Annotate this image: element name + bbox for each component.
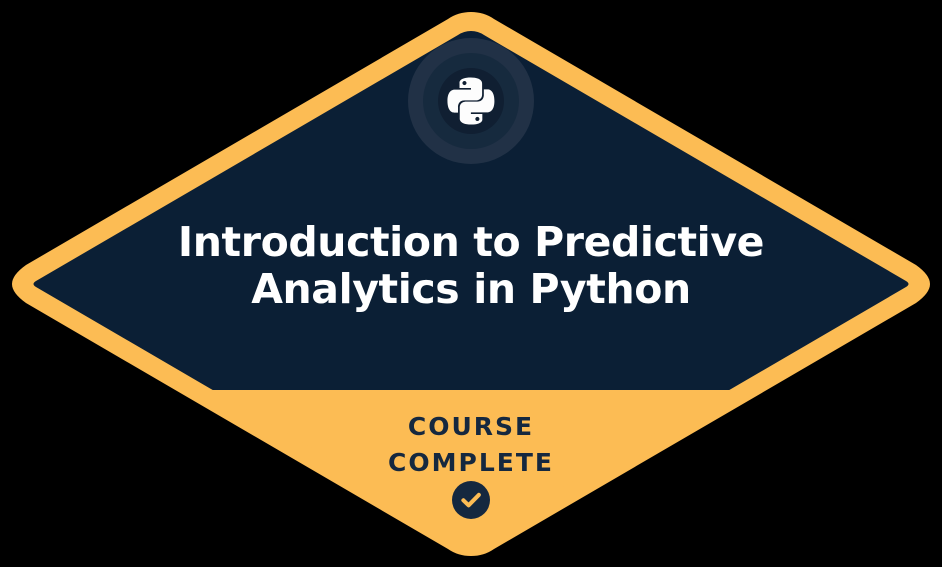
badge-shape (0, 0, 942, 567)
course-completion-badge: Introduction to Predictive Analytics in … (0, 0, 942, 567)
badge-interior (0, 0, 942, 567)
badge-upper-panel (0, 0, 942, 390)
